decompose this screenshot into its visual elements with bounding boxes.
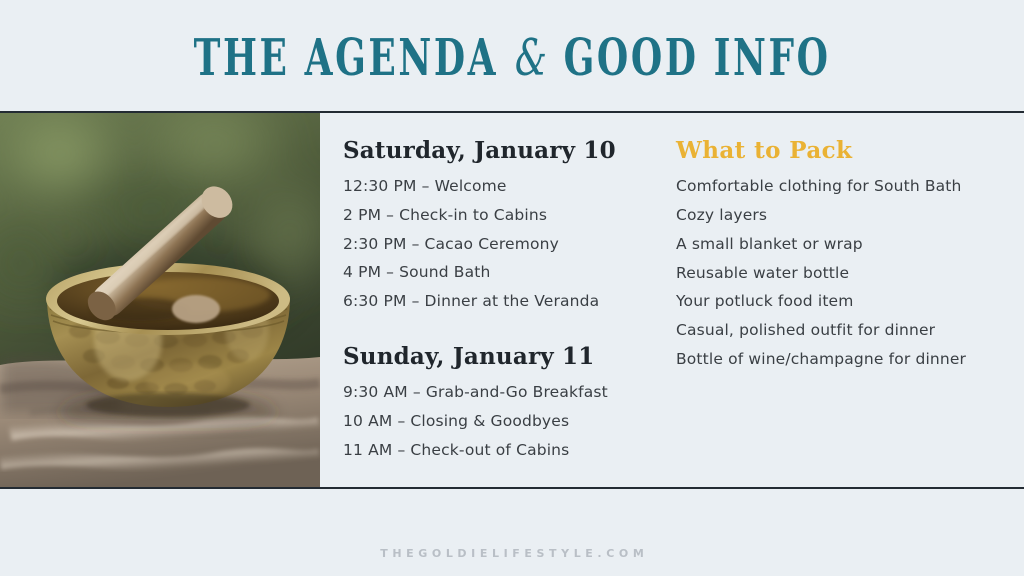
agenda-column: Saturday, January 10 12:30 PM – Welcome … (343, 138, 653, 464)
list-item: 2 PM – Check-in to Cabins (343, 201, 653, 230)
list-item: 11 AM – Check-out of Cabins (343, 436, 653, 465)
footer: THEGOLDIELIFESTYLE.COM (0, 489, 1024, 576)
page-title-part1: THE AGENDA (194, 27, 499, 86)
what-to-pack-column: What to Pack Comfortable clothing for So… (676, 138, 1012, 374)
what-to-pack-heading: What to Pack (676, 138, 1012, 163)
photo-illustration (0, 113, 320, 487)
agenda-list-sunday: 9:30 AM – Grab-and-Go Breakfast 10 AM – … (343, 378, 653, 464)
content-band: Saturday, January 10 12:30 PM – Welcome … (0, 113, 1024, 487)
title-bar: THE AGENDA & GOOD INFO (0, 0, 1024, 112)
list-item: Your potluck food item (676, 287, 1012, 316)
list-item: 2:30 PM – Cacao Ceremony (343, 230, 653, 259)
list-item: Cozy layers (676, 201, 1012, 230)
agenda-list-saturday: 12:30 PM – Welcome 2 PM – Check-in to Ca… (343, 172, 653, 316)
ampersand-glyph: & (513, 27, 548, 86)
footer-website-url: THEGOLDIELIFESTYLE.COM (376, 547, 649, 560)
agenda-day-heading-saturday: Saturday, January 10 (343, 138, 653, 163)
page-title-part2: GOOD INFO (564, 27, 831, 86)
list-item: Bottle of wine/champagne for dinner (676, 345, 1012, 374)
list-item: 10 AM – Closing & Goodbyes (343, 407, 653, 436)
list-item: Casual, polished outfit for dinner (676, 316, 1012, 345)
list-item: Reusable water bottle (676, 259, 1012, 288)
list-item: 4 PM – Sound Bath (343, 258, 653, 287)
slide-canvas: THE AGENDA & GOOD INFO (0, 0, 1024, 576)
list-item: Comfortable clothing for South Bath (676, 172, 1012, 201)
list-item: A small blanket or wrap (676, 230, 1012, 259)
page-title: THE AGENDA & GOOD INFO (194, 32, 831, 82)
list-item: 9:30 AM – Grab-and-Go Breakfast (343, 378, 653, 407)
agenda-day-heading-sunday: Sunday, January 11 (343, 344, 653, 369)
list-item: 12:30 PM – Welcome (343, 172, 653, 201)
what-to-pack-list: Comfortable clothing for South Bath Cozy… (676, 172, 1012, 374)
list-item: 6:30 PM – Dinner at the Veranda (343, 287, 653, 316)
singing-bowl-photo (0, 113, 320, 487)
